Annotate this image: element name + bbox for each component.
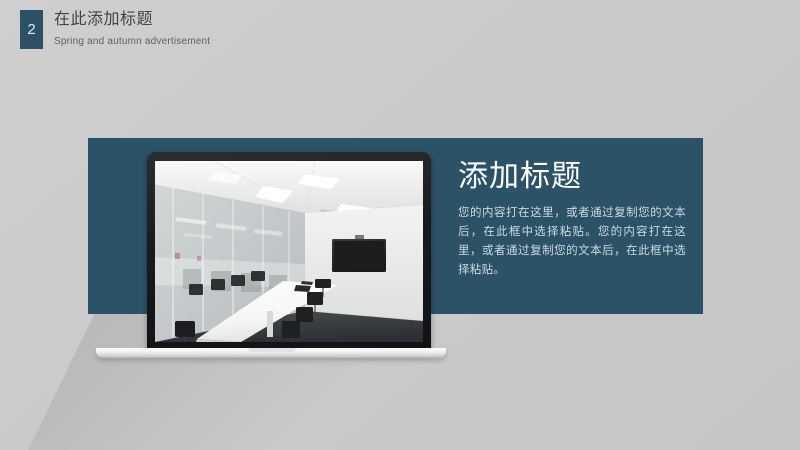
laptop-device: [96, 143, 446, 368]
laptop-lid: [147, 152, 431, 352]
meeting-room-photo: [155, 161, 423, 342]
slide-canvas: 2 在此添加标题 Spring and autumn advertisement…: [0, 0, 800, 450]
panel-title: 添加标题: [458, 158, 686, 196]
laptop-screen: [155, 161, 423, 342]
panel-body-text: 您的内容打在这里，或者通过复制您的文本后，在此框中选择粘贴。您的内容打在这里，或…: [458, 204, 686, 280]
laptop-base-notch: [248, 348, 296, 352]
panel-text-block: 添加标题 您的内容打在这里，或者通过复制您的文本后，在此框中选择粘贴。您的内容打…: [458, 158, 686, 280]
slide-number-badge: 2: [20, 10, 43, 49]
page-title: 在此添加标题: [54, 9, 153, 31]
slide-header: 2 在此添加标题 Spring and autumn advertisement: [0, 0, 800, 60]
page-subtitle: Spring and autumn advertisement: [54, 35, 210, 49]
laptop-base: [96, 348, 446, 358]
